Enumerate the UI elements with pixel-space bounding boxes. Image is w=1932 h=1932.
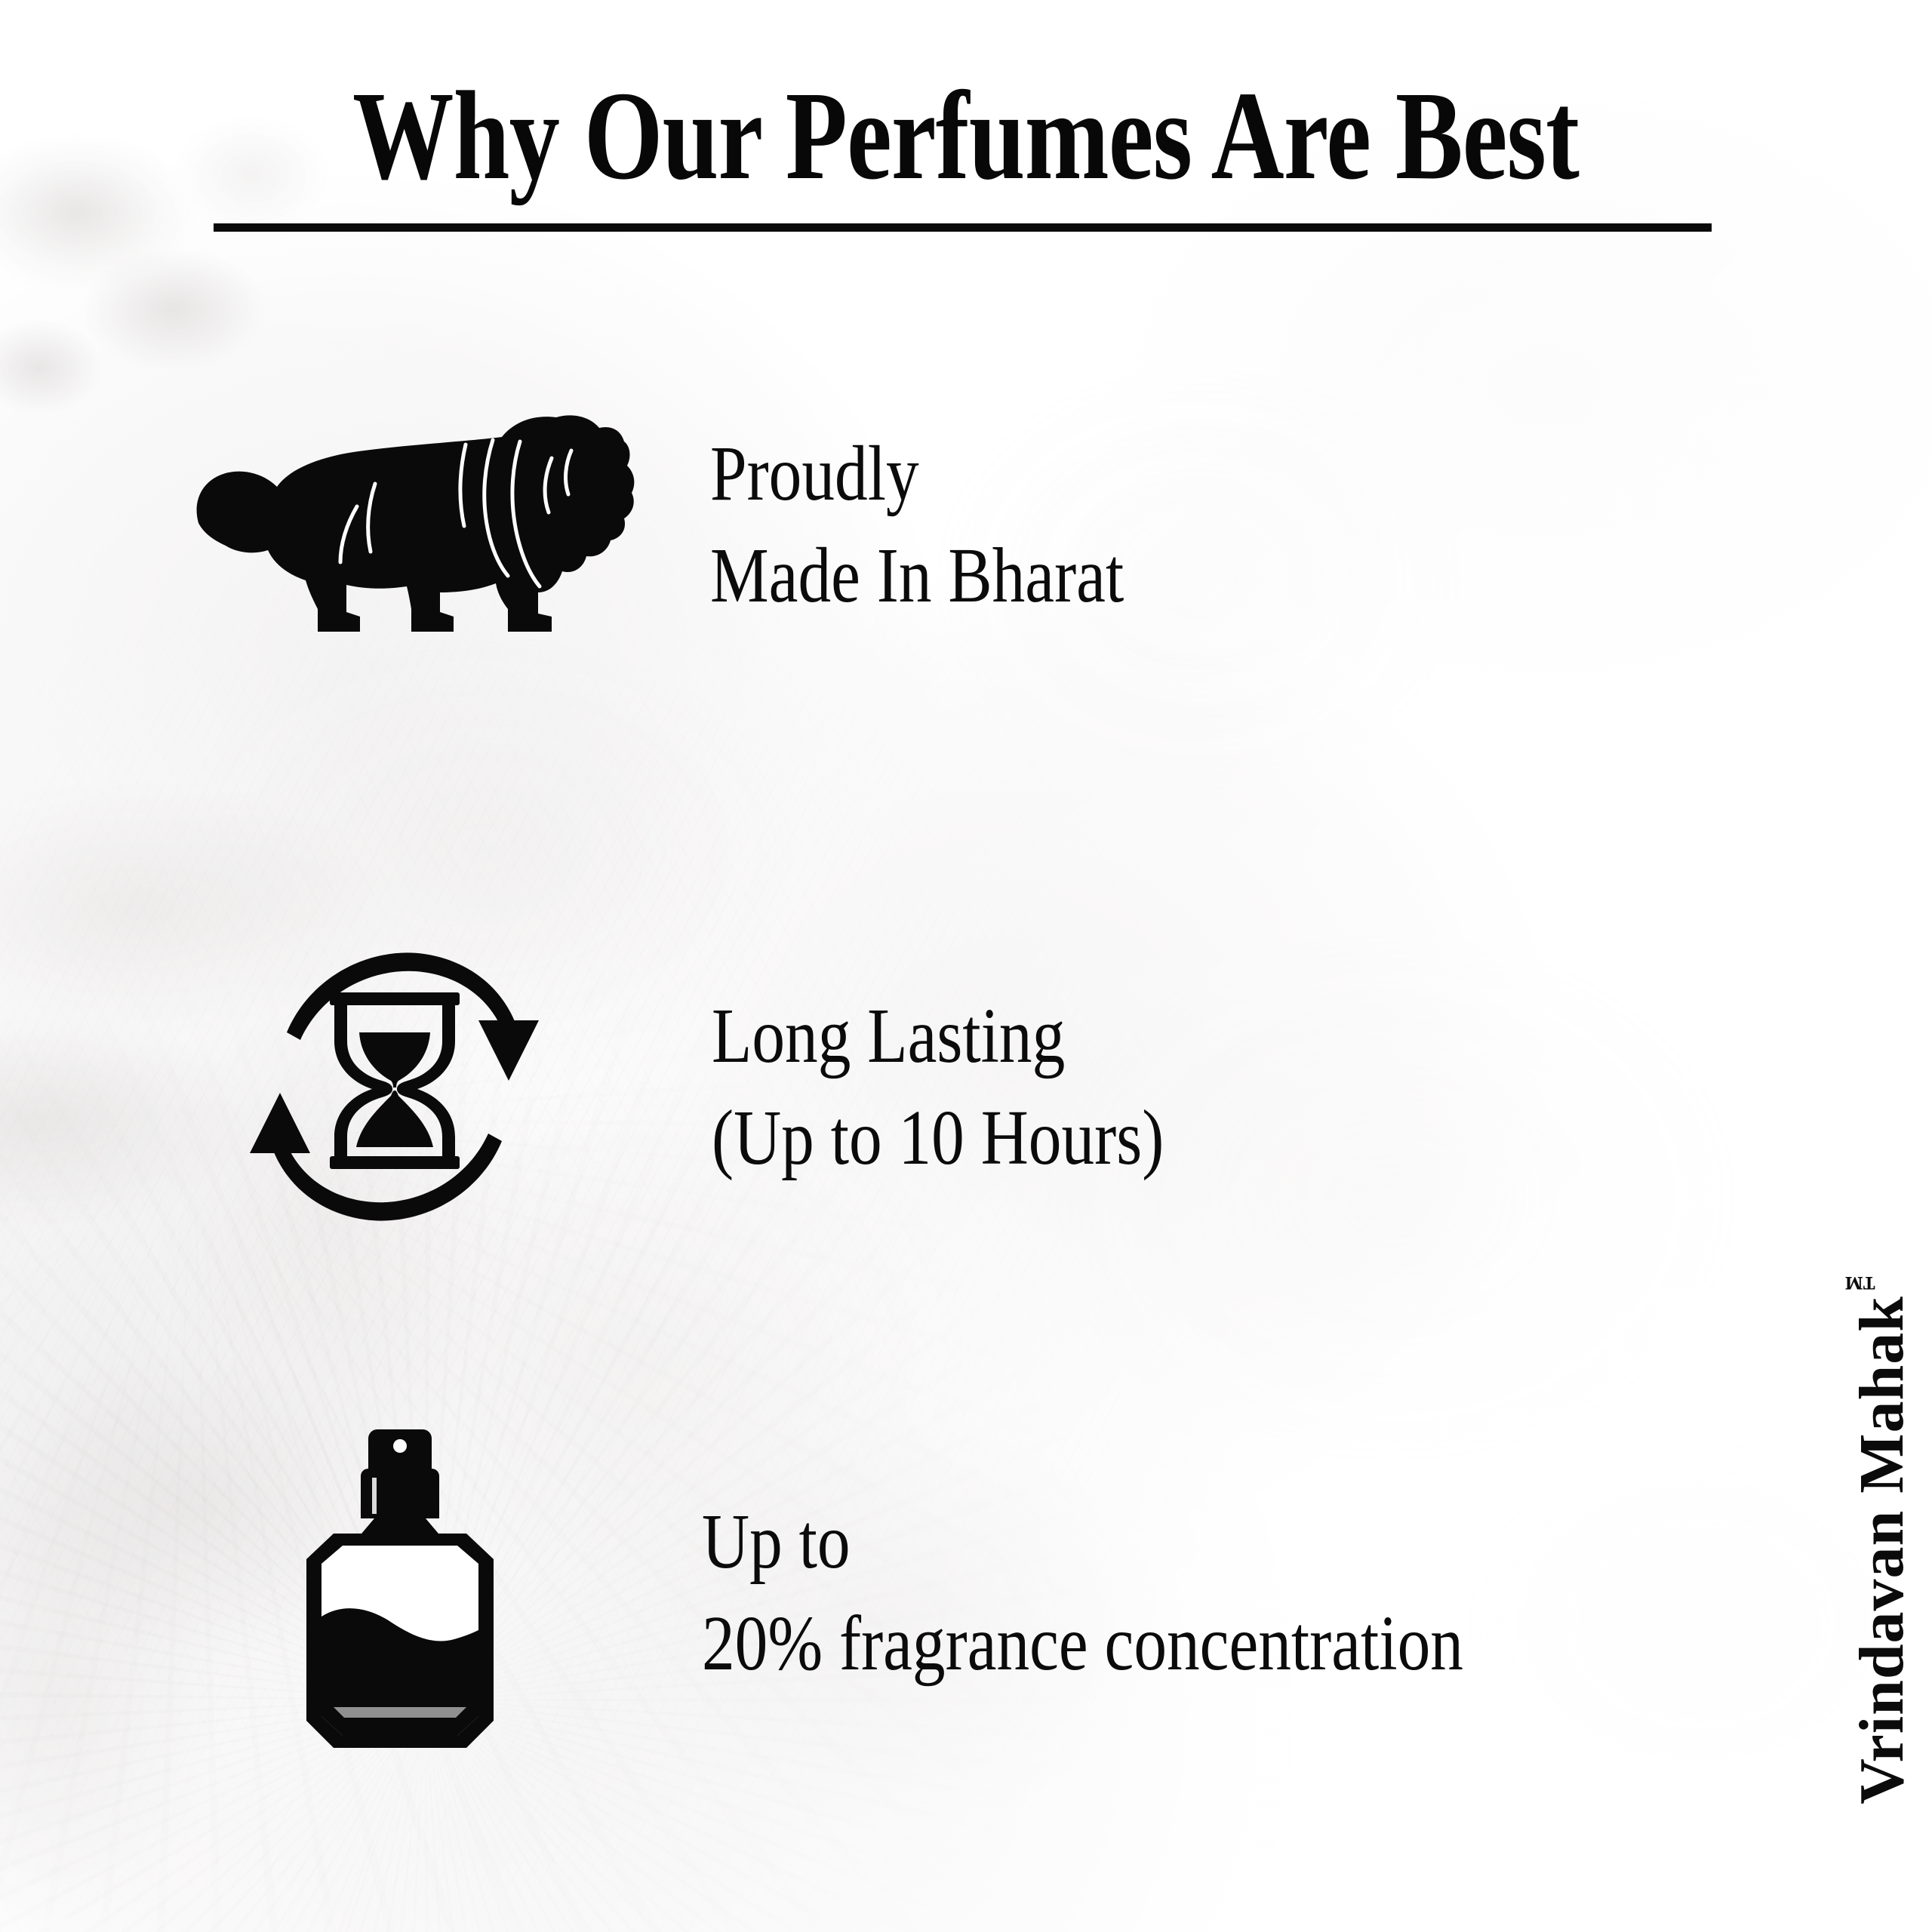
brand-watermark: Vrindavan Mahak™	[1842, 1260, 1918, 1804]
feature-line-1: Long Lasting	[712, 985, 1164, 1087]
feature-line-2: 20% fragrance concentration	[702, 1592, 1463, 1694]
page-title: Why Our Perfumes Are Best	[353, 72, 1580, 199]
feature-text-long-lasting: Long Lasting (Up to 10 Hours)	[712, 985, 1164, 1189]
hourglass-rotate-icon-box	[226, 936, 562, 1238]
feature-row-long-lasting: Long Lasting (Up to 10 Hours)	[226, 936, 1250, 1238]
hourglass-rotate-icon	[226, 936, 562, 1238]
feature-line-2: Made In Bharat	[710, 525, 1124, 626]
brand-name: Vrindavan Mahak	[1847, 1296, 1917, 1804]
perfume-feature-poster: Why Our Perfumes Are Best	[0, 0, 1932, 1932]
trademark-symbol: ™	[1843, 1260, 1878, 1296]
lion-icon	[185, 411, 638, 638]
feature-line-1: Proudly	[710, 423, 1124, 525]
feature-line-1: Up to	[702, 1491, 1463, 1592]
feature-line-2: (Up to 10 Hours)	[712, 1087, 1164, 1189]
lion-icon-box	[185, 411, 638, 638]
perfume-bottle-icon-box	[264, 1419, 536, 1766]
title-underline-rule	[214, 223, 1712, 232]
perfume-bottle-icon	[264, 1419, 536, 1766]
feature-row-fragrance-concentration: Up to 20% fragrance concentration	[264, 1419, 1608, 1766]
feature-text-made-in-bharat: Proudly Made In Bharat	[710, 423, 1124, 626]
feature-text-fragrance-concentration: Up to 20% fragrance concentration	[702, 1491, 1463, 1694]
feature-row-made-in-bharat: Proudly Made In Bharat	[185, 411, 1203, 638]
page-title-wrapper: Why Our Perfumes Are Best	[0, 72, 1932, 199]
